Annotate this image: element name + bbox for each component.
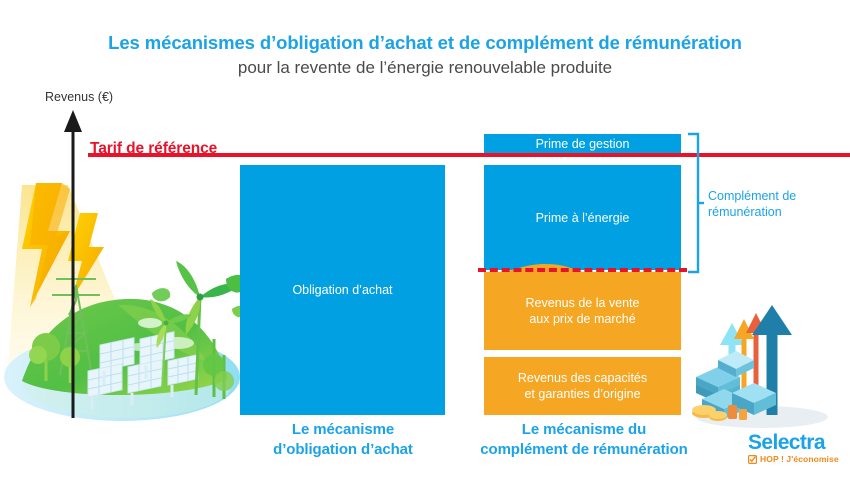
money-growth-illustration [688, 305, 843, 430]
caption-complement-remuneration: Le mécanisme du complément de rémunérati… [466, 420, 702, 460]
caption-complement-remuneration-line-2: complément de rémunération [480, 441, 687, 458]
bar-revenus-capacites[interactable]: Revenus des capacités et garanties d’ori… [484, 357, 681, 415]
caption-obligation-achat-line-2: d’obligation d’achat [273, 441, 413, 458]
bar-revenus-capacites-line-1: Revenus des capacités [518, 371, 647, 385]
y-axis-arrow-icon [62, 108, 84, 423]
bar-prime-de-gestion-label: Prime de gestion [536, 136, 630, 152]
page-title: Les mécanismes d’obligation d’achat et d… [0, 30, 850, 80]
selectra-tagline: HOP ! J'économise [760, 454, 839, 465]
bar-revenus-vente-marche-label: Revenus de la vente aux prix de marché [526, 295, 640, 327]
bar-revenus-capacites-line-2: et garanties d’origine [524, 387, 640, 401]
bar-revenus-vente-marche-line-2: aux prix de marché [529, 312, 635, 326]
complement-bracket-label: Complément de rémunération [708, 188, 828, 220]
y-axis-label: Revenus (€) [45, 90, 113, 104]
complement-bracket-label-line-1: Complément de [708, 189, 796, 203]
bar-revenus-vente-marche[interactable]: Revenus de la vente aux prix de marché [484, 272, 681, 350]
caption-obligation-achat-line-1: Le mécanisme [292, 421, 394, 438]
title-line-1: Les mécanismes d’obligation d’achat et d… [0, 30, 850, 56]
market-price-dashed-line [478, 268, 687, 272]
bar-revenus-capacites-label: Revenus des capacités et garanties d’ori… [518, 370, 647, 402]
complement-bracket-icon [686, 132, 704, 279]
reference-tariff-label: Tarif de référence [90, 140, 217, 158]
bar-prime-a-l-energie[interactable]: Prime à l’énergie [484, 165, 681, 270]
renewable-energy-landscape-illustration [0, 175, 245, 425]
selectra-logo[interactable]: Selectra HOP ! J'économise [748, 432, 848, 478]
infographic-canvas: Les mécanismes d’obligation d’achat et d… [0, 0, 850, 483]
bar-obligation-achat[interactable]: Obligation d’achat [240, 165, 445, 415]
check-box-icon [748, 455, 757, 464]
complement-bracket-label-line-2: rémunération [708, 205, 782, 219]
bar-prime-a-l-energie-label: Prime à l’énergie [536, 210, 630, 226]
bar-prime-de-gestion[interactable]: Prime de gestion [484, 134, 681, 153]
caption-complement-remuneration-line-1: Le mécanisme du [522, 421, 646, 438]
selectra-wordmark: Selectra [748, 432, 848, 454]
bar-obligation-achat-label: Obligation d’achat [292, 282, 392, 298]
title-line-2: pour la revente de l’énergie renouvelabl… [0, 56, 850, 80]
caption-obligation-achat: Le mécanisme d’obligation d’achat [228, 420, 458, 460]
bar-revenus-vente-marche-line-1: Revenus de la vente [526, 296, 640, 310]
selectra-tagline-wrap: HOP ! J'économise [748, 454, 848, 465]
